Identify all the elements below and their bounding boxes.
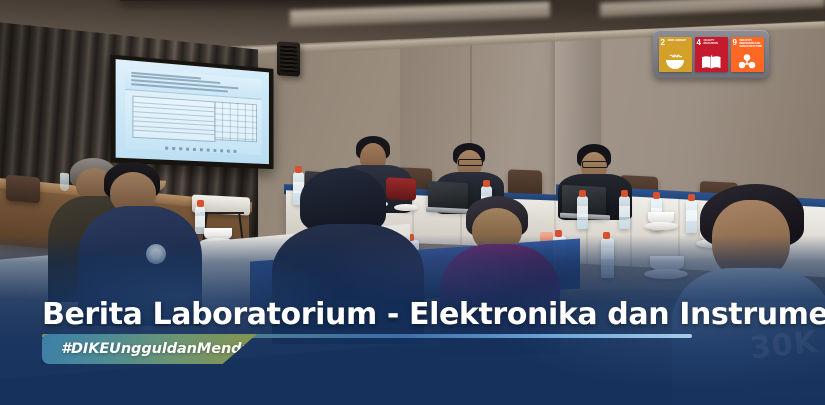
sdg-number: 2 (661, 39, 665, 47)
water-glass (60, 173, 69, 192)
slide-table-block (133, 96, 216, 142)
water-bottle (686, 200, 697, 233)
wall-speaker (277, 41, 300, 76)
sdg-tile-4: 4 QUALITY EDUCATION (695, 37, 728, 72)
sdg-number: 9 (733, 39, 737, 47)
sdg-caption: QUALITY EDUCATION (704, 39, 727, 45)
open-book-icon (695, 53, 728, 70)
projection-surface (116, 59, 269, 164)
ceiling-inner-panel (120, 0, 550, 1)
hashtag-badge: #DIKEUngguldanMendunia (42, 334, 257, 364)
sdg-caption: ZERO HUNGER (668, 39, 691, 42)
slide-toolbar (125, 68, 261, 100)
slide-data-grid (214, 101, 257, 142)
plate (394, 204, 418, 211)
sdg-tile-2: 2 ZERO HUNGER (659, 37, 692, 72)
news-banner: 2 ZERO HUNGER 4 QUALITY EDUCATION (0, 0, 825, 405)
page-title: Berita Laboratorium - Elektronika dan In… (42, 297, 825, 332)
water-bottle (577, 196, 588, 229)
plate (644, 222, 678, 230)
innovation-cubes-icon (731, 53, 764, 70)
sdg-number: 4 (697, 39, 701, 47)
sdg-badge-panel: 2 ZERO HUNGER 4 QUALITY EDUCATION (653, 30, 769, 78)
sdg-tile-9: 9 INDUSTRY, INNOVATION AND INFRASTRUCTUR… (731, 37, 764, 72)
slide-status-bar (165, 146, 238, 152)
chair (6, 175, 40, 204)
projected-slide (125, 68, 261, 155)
soup-bowl-icon (659, 53, 692, 70)
projection-screen (110, 55, 273, 170)
water-bottle (619, 196, 630, 229)
handbag (386, 177, 416, 201)
sdg-caption: INDUSTRY, INNOVATION AND INFRASTRUCTURE (740, 39, 763, 48)
